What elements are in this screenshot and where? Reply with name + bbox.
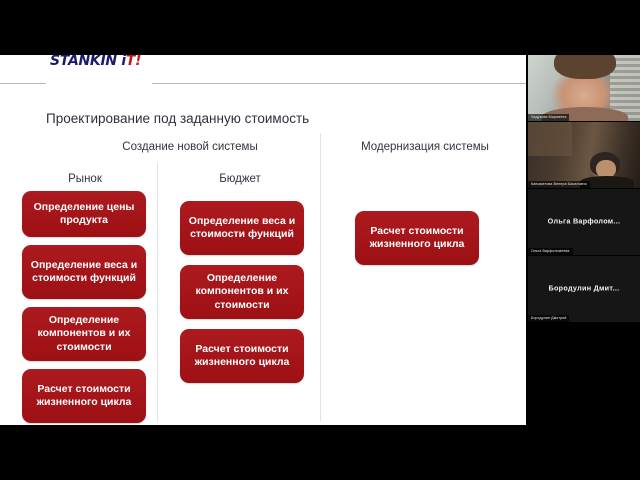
participant-name-tag: Чадукова Марианна <box>528 114 569 121</box>
process-box: Расчет стоимости жизненного цикла <box>180 329 304 383</box>
column-divider-2 <box>320 133 321 421</box>
process-box-label: Определение компонентов и их стоимости <box>186 272 298 313</box>
participant-tile[interactable]: Бородулин Дмит... Бородулин Дмитрий <box>528 256 640 323</box>
process-box: Определение компонентов и их стоимости <box>22 307 146 361</box>
logo-accent-text: T! <box>126 55 141 69</box>
logo-main-text: STANKIN i <box>50 55 126 69</box>
webcam-video <box>528 55 640 121</box>
slide-header <box>0 77 526 89</box>
participant-name-tag: Бородулин Дмитрий <box>528 315 569 322</box>
process-box-label: Расчет стоимости жизненного цикла <box>186 343 298 370</box>
header-rule-left <box>0 83 46 84</box>
video-call-stage: STANKIN iT! Проектирование под заданную … <box>0 0 640 480</box>
process-box: Определение цены продукта <box>22 191 146 237</box>
heading-budget: Бюджет <box>165 173 315 185</box>
participant-tile[interactable]: Каныметова Венера Басиловна <box>528 122 640 189</box>
process-box-label: Определение веса и стоимости функций <box>28 259 140 286</box>
webcam-video <box>528 122 640 188</box>
process-box: Расчет стоимости жизненного цикла <box>355 211 479 265</box>
process-box-label: Расчет стоимости жизненного цикла <box>361 225 473 252</box>
header-rule-right <box>152 83 526 84</box>
process-box-label: Расчет стоимости жизненного цикла <box>28 383 140 410</box>
process-box: Определение веса и стоимости функций <box>22 245 146 299</box>
process-box-label: Определение цены продукта <box>28 201 140 228</box>
participant-tile[interactable]: Чадукова Марианна <box>528 55 640 122</box>
participant-strip: Чадукова Марианна Каныметова Венера Баси… <box>528 55 640 325</box>
slide-title: Проектирование под заданную стоимость <box>46 111 309 126</box>
heading-new-system: Создание новой системы <box>60 141 320 153</box>
stankin-logo: STANKIN iT! <box>50 55 141 70</box>
heading-market: Рынок <box>20 173 150 185</box>
participant-display-name: Ольга Варфолом... <box>528 217 640 226</box>
shared-slide: STANKIN iT! Проектирование под заданную … <box>0 55 526 425</box>
column-divider-1 <box>157 163 158 421</box>
participant-tile[interactable]: Ольга Варфолом... Ольга Варфоломеева <box>528 189 640 256</box>
room-wall <box>528 122 572 156</box>
process-box-label: Определение веса и стоимости функций <box>186 215 298 242</box>
participant-display-name: Бородулин Дмит... <box>528 284 640 293</box>
participant-name-tag: Ольга Варфоломеева <box>528 248 573 255</box>
process-box: Расчет стоимости жизненного цикла <box>22 369 146 423</box>
process-box: Определение веса и стоимости функций <box>180 201 304 255</box>
heading-modernization: Модернизация системы <box>330 141 520 153</box>
process-box: Определение компонентов и их стоимости <box>180 265 304 319</box>
participant-name-tag: Каныметова Венера Басиловна <box>528 181 590 188</box>
person-hair <box>554 55 616 79</box>
process-box-label: Определение компонентов и их стоимости <box>28 314 140 355</box>
